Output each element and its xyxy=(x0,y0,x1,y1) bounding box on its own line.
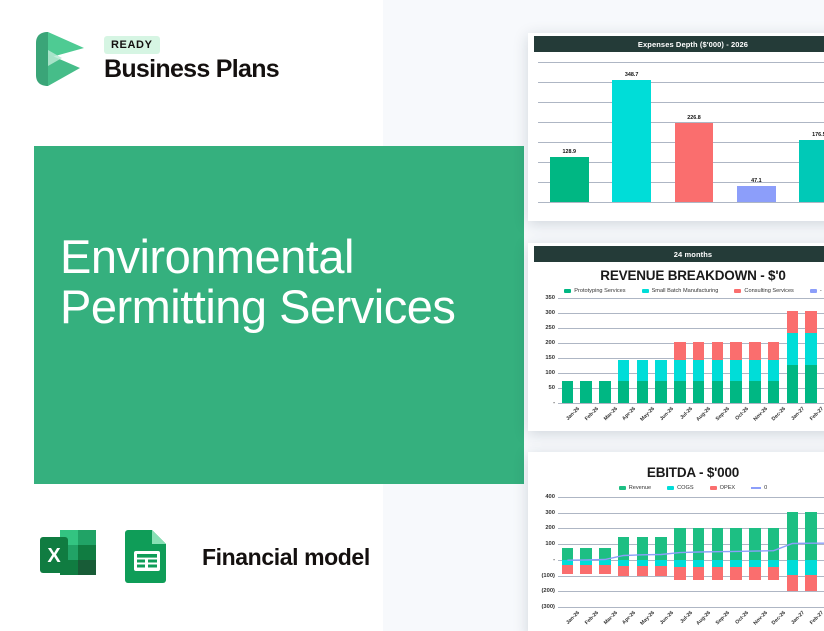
ebitda-plot-area: 400300200100-(100)(200)(300)Jan-26Feb-26… xyxy=(558,497,824,607)
bar-segment xyxy=(674,342,686,360)
x-axis-tick-label: Nov-26 xyxy=(751,406,769,424)
google-sheets-icon xyxy=(118,526,176,589)
bar-column: 128.9 xyxy=(538,62,600,202)
x-axis-tick-label: Jun-26 xyxy=(657,610,675,628)
y-axis-tick-label: 100 xyxy=(545,541,555,547)
bar-segment xyxy=(805,365,817,403)
bar-segment xyxy=(693,360,705,381)
y-axis-tick-label: 300 xyxy=(545,510,555,516)
legend-item: 0 xyxy=(751,485,767,491)
chart-legend-revenue: Prototyping ServicesSmall Batch Manufact… xyxy=(528,288,824,294)
x-axis-tick-label: Apr-26 xyxy=(620,406,638,424)
bar-column xyxy=(689,298,708,403)
legend-item: COGS xyxy=(667,485,693,491)
legend-label: Small Batch Manufacturing xyxy=(652,288,719,294)
bar-column xyxy=(821,298,824,403)
bar-segment xyxy=(730,381,742,403)
bar-column xyxy=(708,298,727,403)
bar xyxy=(675,123,714,202)
bar-stack xyxy=(746,298,765,403)
bar-segment xyxy=(637,360,649,381)
financial-model-label: Financial model xyxy=(202,544,370,571)
chart-header-expenses: Expenses Depth ($'000) - 2026 xyxy=(534,36,824,52)
bar-segment xyxy=(712,342,724,360)
bar-segment xyxy=(580,381,592,403)
y-axis-tick-label: 300 xyxy=(545,310,555,316)
legend-item: Prototyping Services xyxy=(564,288,625,294)
bar-value-label: 348.7 xyxy=(625,72,639,78)
bar xyxy=(737,186,776,202)
legend-label: OPEX xyxy=(720,485,736,491)
x-axis-tick-label: Jan-26 xyxy=(563,406,581,424)
brand-name: Business Plans xyxy=(104,57,279,82)
bar-column xyxy=(783,298,802,403)
x-axis-tick-label: Feb-27 xyxy=(807,610,824,628)
legend-label: Consulting Services xyxy=(744,288,793,294)
footer-formats: X Financial model xyxy=(38,524,370,591)
x-axis-tick-label: Feb-27 xyxy=(807,406,824,424)
y-axis-tick-label: (200) xyxy=(541,588,555,594)
bar-column: 348.7 xyxy=(600,62,662,202)
x-axis-tick-label: Feb-26 xyxy=(582,406,600,424)
bar-column xyxy=(802,298,821,403)
y-axis-tick-label: 200 xyxy=(545,340,555,346)
bar-column xyxy=(614,298,633,403)
bar-stack xyxy=(764,298,783,403)
bar-stack xyxy=(802,298,821,403)
x-axis-tick-label: Jan-27 xyxy=(788,406,806,424)
legend-swatch xyxy=(564,289,571,293)
x-axis-tick-label: Jan-27 xyxy=(788,610,806,628)
y-axis-tick-label: 400 xyxy=(545,494,555,500)
x-axis-labels: Jan-26Feb-26Mar-26Apr-26May-26Jun-26Jul-… xyxy=(558,607,824,616)
revenue-plot-area: 35030025020015010050-Jan-26Feb-26Mar-26A… xyxy=(558,298,824,403)
bar-segment xyxy=(749,342,761,360)
bar-column xyxy=(746,298,765,403)
bar-column xyxy=(558,298,577,403)
x-axis-tick-label: May-26 xyxy=(638,610,656,628)
legend-swatch xyxy=(751,487,761,489)
bar-column xyxy=(596,298,615,403)
legend-swatch xyxy=(710,486,717,490)
bar-column xyxy=(727,298,746,403)
legend-label: Revenue xyxy=(629,485,651,491)
bar-segment xyxy=(787,333,799,364)
chart-title-ebitda: EBITDA - $'000 xyxy=(528,465,824,480)
x-axis-tick-label: Jun-26 xyxy=(657,406,675,424)
bar-segment xyxy=(599,381,611,403)
bar-stack xyxy=(577,298,596,403)
legend-label: - xyxy=(820,288,822,294)
x-axis-tick-label: Aug-26 xyxy=(695,610,713,628)
y-axis-tick-label: - xyxy=(553,400,555,406)
legend-item: - xyxy=(810,288,822,294)
ready-badge: READY xyxy=(104,36,160,53)
y-axis-tick-label: (300) xyxy=(541,604,555,610)
bar-stack xyxy=(558,298,577,403)
bar-segment xyxy=(693,342,705,360)
legend-item: Consulting Services xyxy=(734,288,793,294)
y-axis-tick-label: 150 xyxy=(545,355,555,361)
bar-segment xyxy=(674,381,686,403)
bar-group xyxy=(558,298,824,403)
bar-segment xyxy=(749,360,761,381)
bar-column xyxy=(577,298,596,403)
x-axis-tick-label: Jul-26 xyxy=(676,610,694,628)
bar-column: 47.1 xyxy=(725,62,787,202)
x-axis-tick-label: Jul-26 xyxy=(676,406,694,424)
chart-card-ebitda[interactable]: EBITDA - $'000 RevenueCOGSOPEX0 40030020… xyxy=(528,452,824,631)
bar-segment xyxy=(712,381,724,403)
expenses-plot-area: 128.9348.7226.847.1176.5 xyxy=(538,62,824,202)
bar-column xyxy=(633,298,652,403)
bar-column: 226.8 xyxy=(663,62,725,202)
bar-segment xyxy=(787,311,799,333)
legend-swatch xyxy=(619,486,626,490)
bar-segment xyxy=(618,381,630,403)
bar-value-label: 176.5 xyxy=(812,132,824,138)
ebitda-line-series xyxy=(558,497,824,607)
bar-stack xyxy=(689,298,708,403)
x-axis-tick-label: Dec-26 xyxy=(770,406,788,424)
x-axis-tick-label: Feb-26 xyxy=(582,610,600,628)
bar-stack xyxy=(671,298,690,403)
legend-label: COGS xyxy=(677,485,693,491)
legend-item: Revenue xyxy=(619,485,651,491)
page-title: Environmental Permitting Services xyxy=(60,232,500,333)
bar-segment xyxy=(693,381,705,403)
chart-card-expenses[interactable]: Expenses Depth ($'000) - 2026 128.9348.7… xyxy=(528,33,824,221)
chart-card-revenue[interactable]: 24 months REVENUE BREAKDOWN - $'0 Protot… xyxy=(528,243,824,431)
chart-header-months: 24 months xyxy=(534,246,824,262)
bar-stack xyxy=(708,298,727,403)
legend-item: OPEX xyxy=(710,485,736,491)
bar-stack xyxy=(821,298,824,403)
bar-segment xyxy=(768,342,780,360)
x-axis-tick-label: Jan-26 xyxy=(563,610,581,628)
bar-stack xyxy=(596,298,615,403)
x-axis-tick-label: Oct-26 xyxy=(732,610,750,628)
y-axis-tick-label: - xyxy=(553,557,555,563)
bar-value-label: 226.8 xyxy=(687,115,701,121)
bar-segment xyxy=(768,360,780,381)
x-axis-tick-label: Aug-26 xyxy=(695,406,713,424)
y-axis-tick-label: 250 xyxy=(545,325,555,331)
legend-swatch xyxy=(734,289,741,293)
bar-segment xyxy=(768,381,780,403)
legend-item: Small Batch Manufacturing xyxy=(642,288,719,294)
brand-logo[interactable]: READY Business Plans xyxy=(28,28,279,90)
x-axis-labels: Jan-26Feb-26Mar-26Apr-26May-26Jun-26Jul-… xyxy=(558,403,824,412)
legend-swatch xyxy=(667,486,674,490)
bar-segment xyxy=(730,342,742,360)
chart-title-revenue: REVENUE BREAKDOWN - $'0 xyxy=(528,268,824,283)
bar-segment xyxy=(674,360,686,381)
excel-icon: X xyxy=(38,524,100,591)
x-axis-tick-label: Nov-26 xyxy=(751,610,769,628)
bar-segment xyxy=(655,381,667,403)
poster-canvas: READY Business Plans Environmental Permi… xyxy=(0,0,824,631)
y-axis-tick-label: 50 xyxy=(549,385,555,391)
y-axis-tick-label: 100 xyxy=(545,370,555,376)
legend-label: 0 xyxy=(764,485,767,491)
bar-value-label: 128.9 xyxy=(562,149,576,155)
bar-segment xyxy=(562,381,574,403)
legend-swatch xyxy=(810,289,817,293)
bar-stack xyxy=(727,298,746,403)
bar-column xyxy=(652,298,671,403)
bar-column xyxy=(671,298,690,403)
x-axis-tick-label: Dec-26 xyxy=(770,610,788,628)
bar-group: 128.9348.7226.847.1176.5 xyxy=(538,62,824,202)
y-axis-tick-label: 350 xyxy=(545,295,555,301)
x-axis-tick-label: Mar-26 xyxy=(601,610,619,628)
bar-value-label: 47.1 xyxy=(751,178,762,184)
bar-segment xyxy=(712,360,724,381)
bar xyxy=(799,140,824,202)
bar xyxy=(612,80,651,202)
gridline xyxy=(538,202,824,203)
bar-segment xyxy=(805,333,817,364)
x-axis-tick-label: May-26 xyxy=(638,406,656,424)
y-axis-tick-label: 200 xyxy=(545,525,555,531)
x-axis-tick-label: Sep-26 xyxy=(713,610,731,628)
y-axis-tick-label: (100) xyxy=(541,573,555,579)
x-axis-tick-label: Sep-26 xyxy=(713,406,731,424)
bar xyxy=(550,157,589,202)
bar-segment xyxy=(618,360,630,381)
bar-stack xyxy=(614,298,633,403)
bar-stack xyxy=(652,298,671,403)
play-triangle-logo-icon xyxy=(28,28,90,90)
bar-segment xyxy=(749,381,761,403)
bar-column xyxy=(764,298,783,403)
x-axis-tick-label: Oct-26 xyxy=(732,406,750,424)
bar-stack xyxy=(783,298,802,403)
x-axis-tick-label: Apr-26 xyxy=(620,610,638,628)
bar-column: 176.5 xyxy=(788,62,824,202)
chart-legend-ebitda: RevenueCOGSOPEX0 xyxy=(528,485,824,491)
bar-segment xyxy=(805,311,817,333)
legend-label: Prototyping Services xyxy=(574,288,625,294)
bar-segment xyxy=(655,360,667,381)
legend-swatch xyxy=(642,289,649,293)
bar-segment xyxy=(637,381,649,403)
x-axis-tick-label: Mar-26 xyxy=(601,406,619,424)
bar-segment xyxy=(787,365,799,403)
svg-text:X: X xyxy=(47,545,61,567)
bar-stack xyxy=(633,298,652,403)
bar-segment xyxy=(730,360,742,381)
